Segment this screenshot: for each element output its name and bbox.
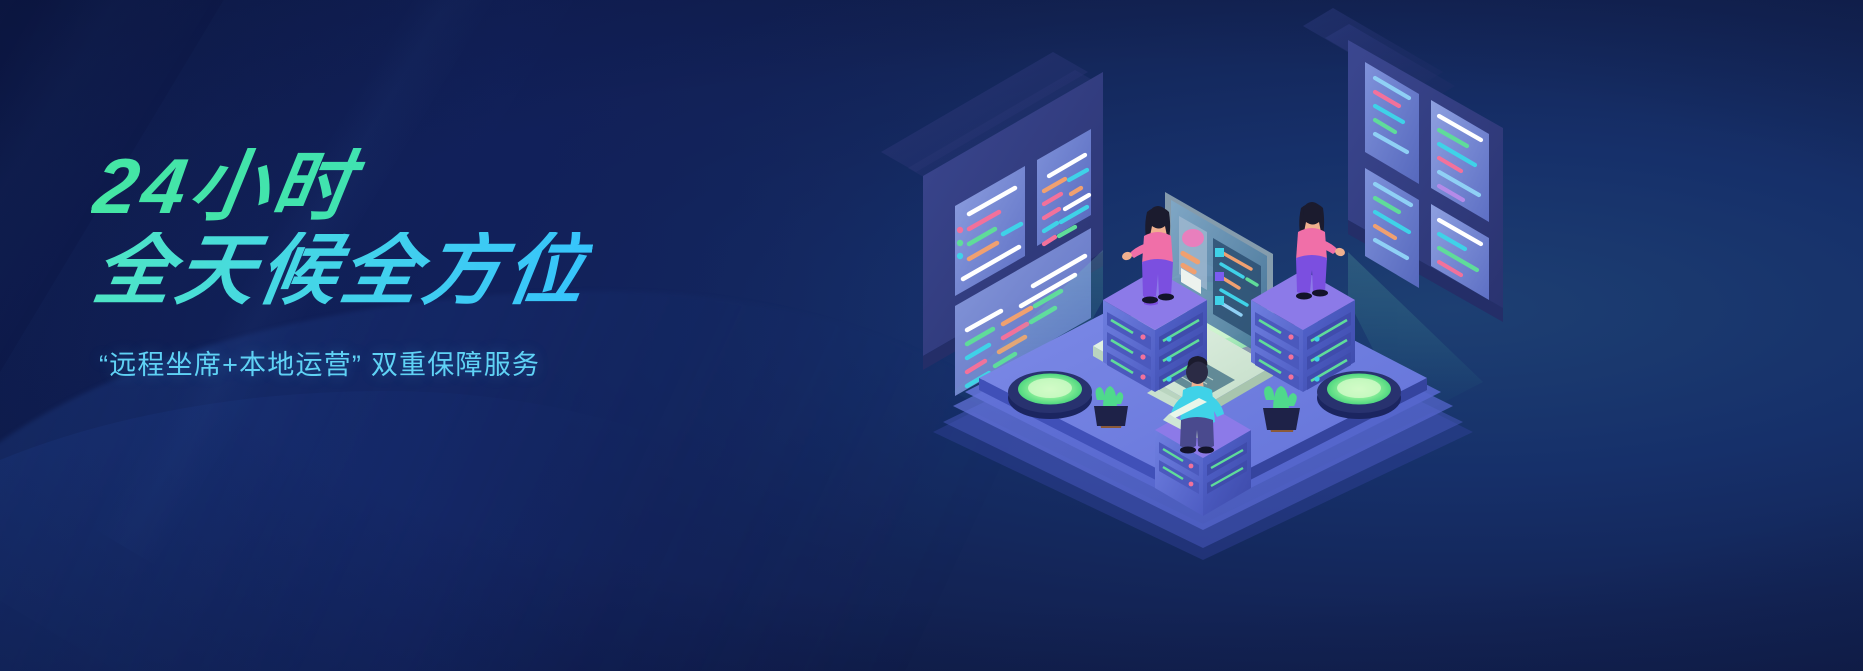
banner-subtitle: “远程坐席+本地运营” 双重保障服务 <box>99 343 593 382</box>
hero-banner: 24小时 全天候全方位 “远程坐席+本地运营” 双重保障服务 <box>0 0 1863 671</box>
headline-line-2: 全天候全方位 <box>89 232 595 308</box>
headline: 24小时 全天候全方位 <box>95 148 589 309</box>
right-monitor-wall <box>1303 8 1503 322</box>
glow-pad-left <box>1008 371 1092 419</box>
isometric-illustration <box>803 0 1563 671</box>
glow-pad-right <box>1317 371 1401 419</box>
headline-line-1: 24小时 <box>89 148 595 224</box>
banner-copy: 24小时 全天候全方位 “远程坐席+本地运营” 双重保障服务 <box>95 148 589 382</box>
standing-woman-right <box>1296 202 1346 300</box>
